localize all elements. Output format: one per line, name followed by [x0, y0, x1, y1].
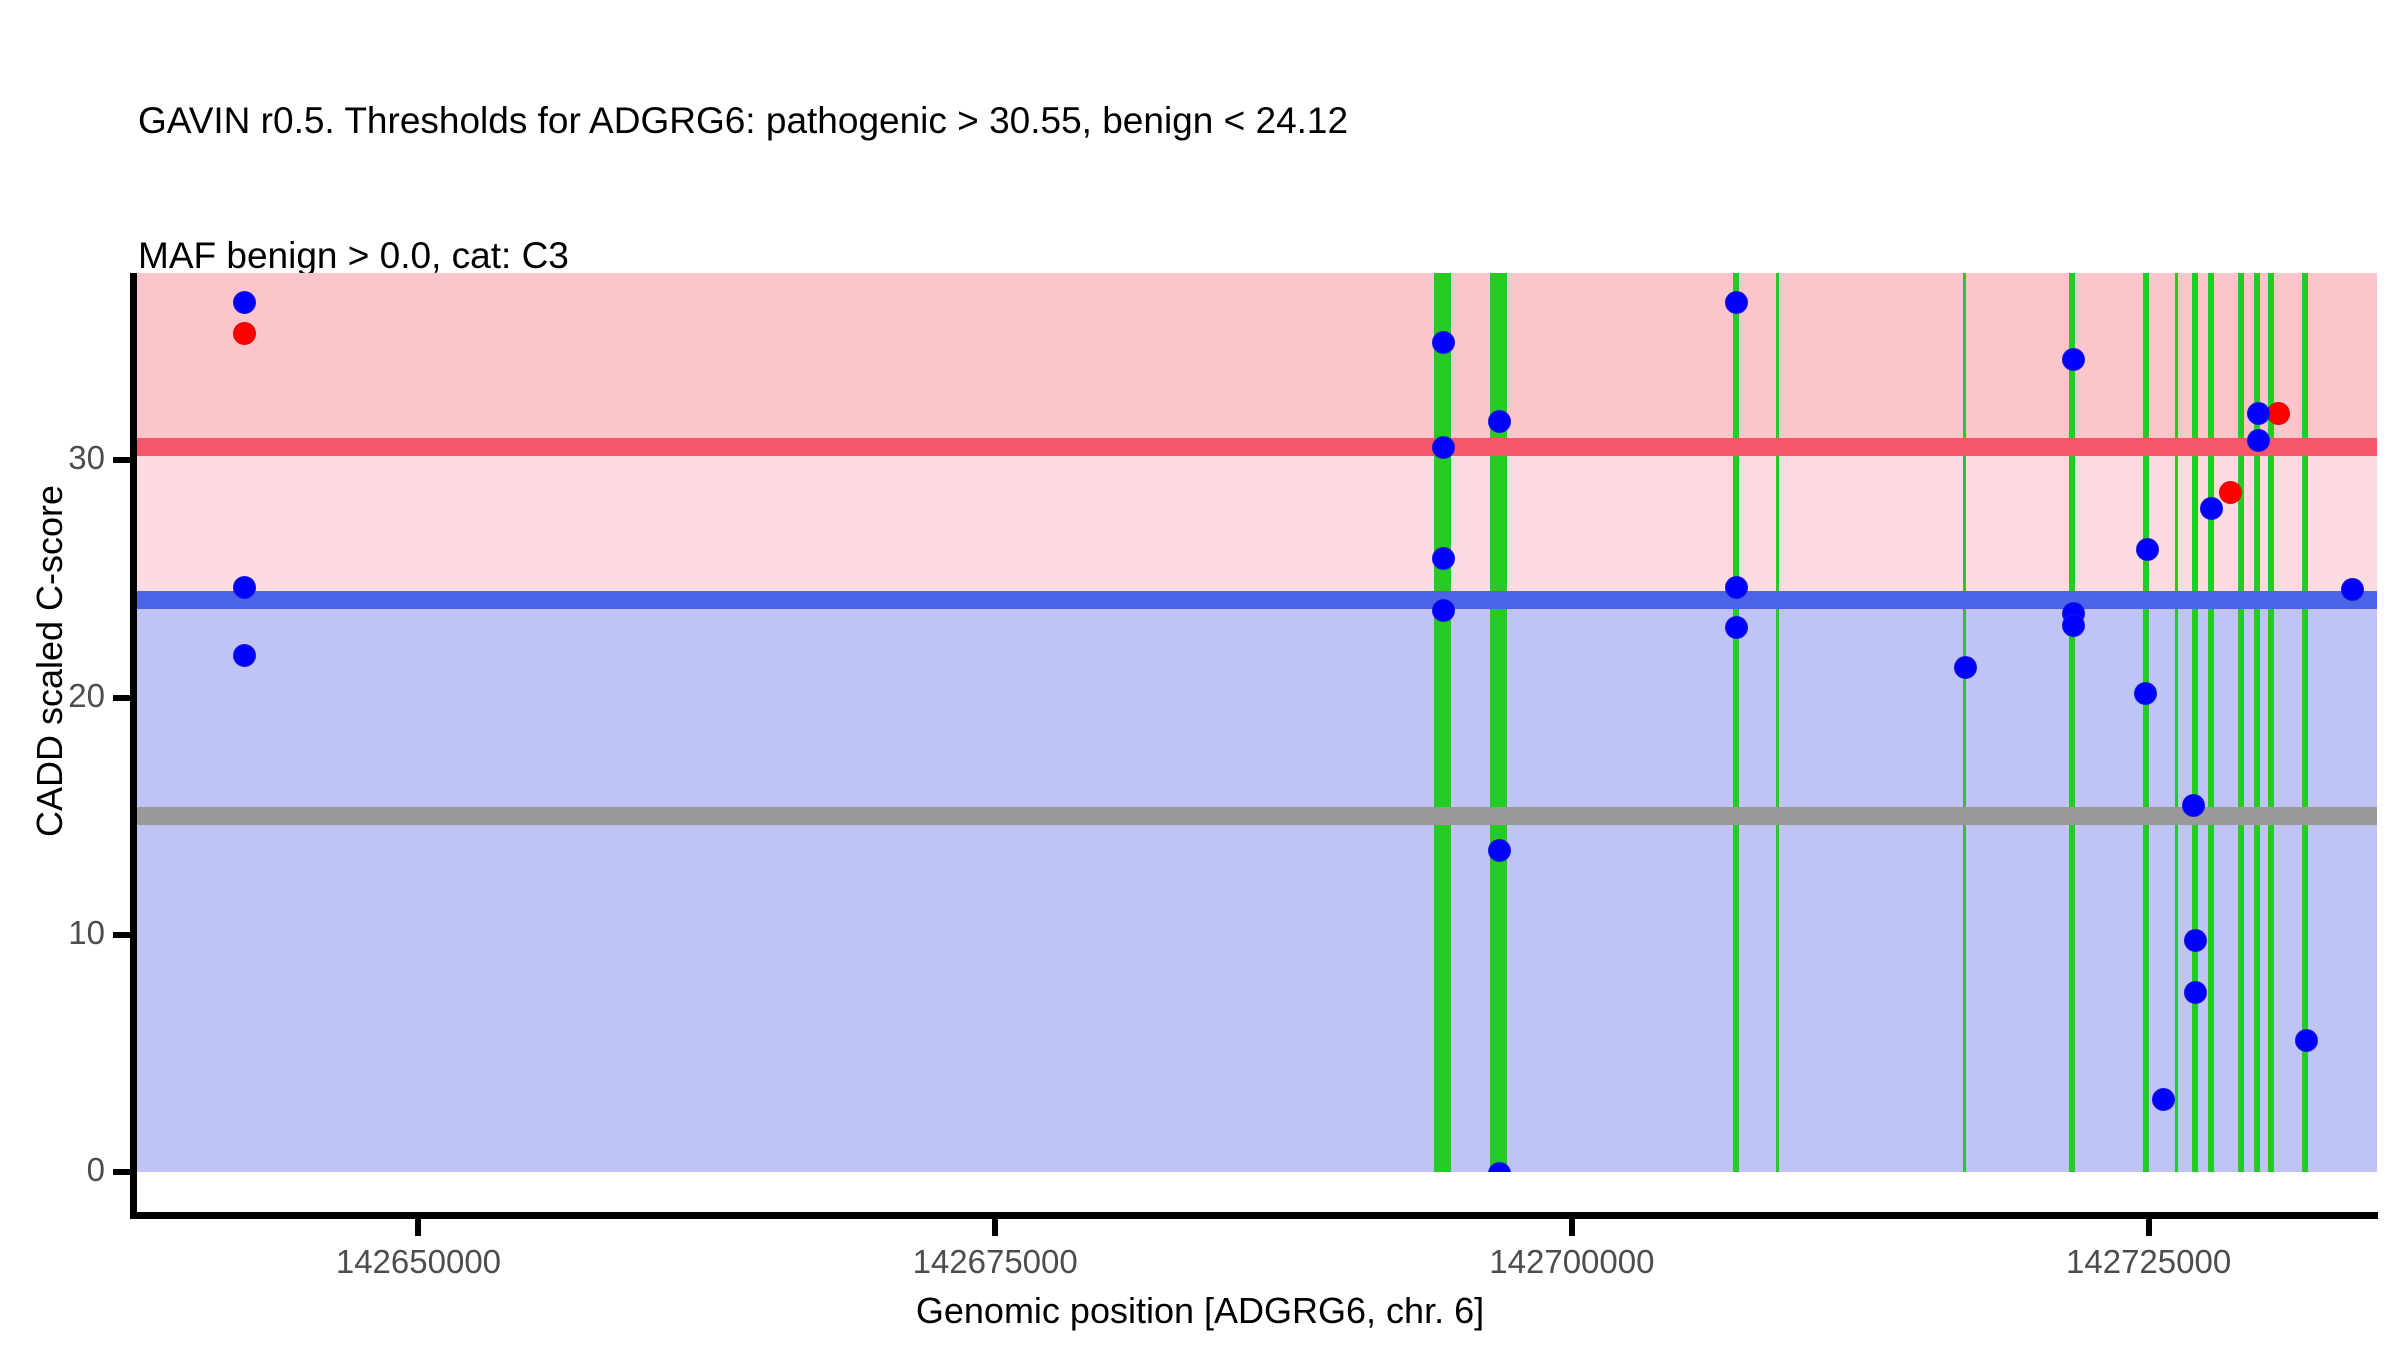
y-axis-label-wrap: CADD scaled C-score	[0, 0, 2400, 1350]
chart-root: GAVIN r0.5. Thresholds for ADGRG6: patho…	[0, 0, 2400, 1350]
x-axis-label: Genomic position [ADGRG6, chr. 6]	[0, 1290, 2400, 1332]
y-axis-label: CADD scaled C-score	[29, 281, 71, 1041]
